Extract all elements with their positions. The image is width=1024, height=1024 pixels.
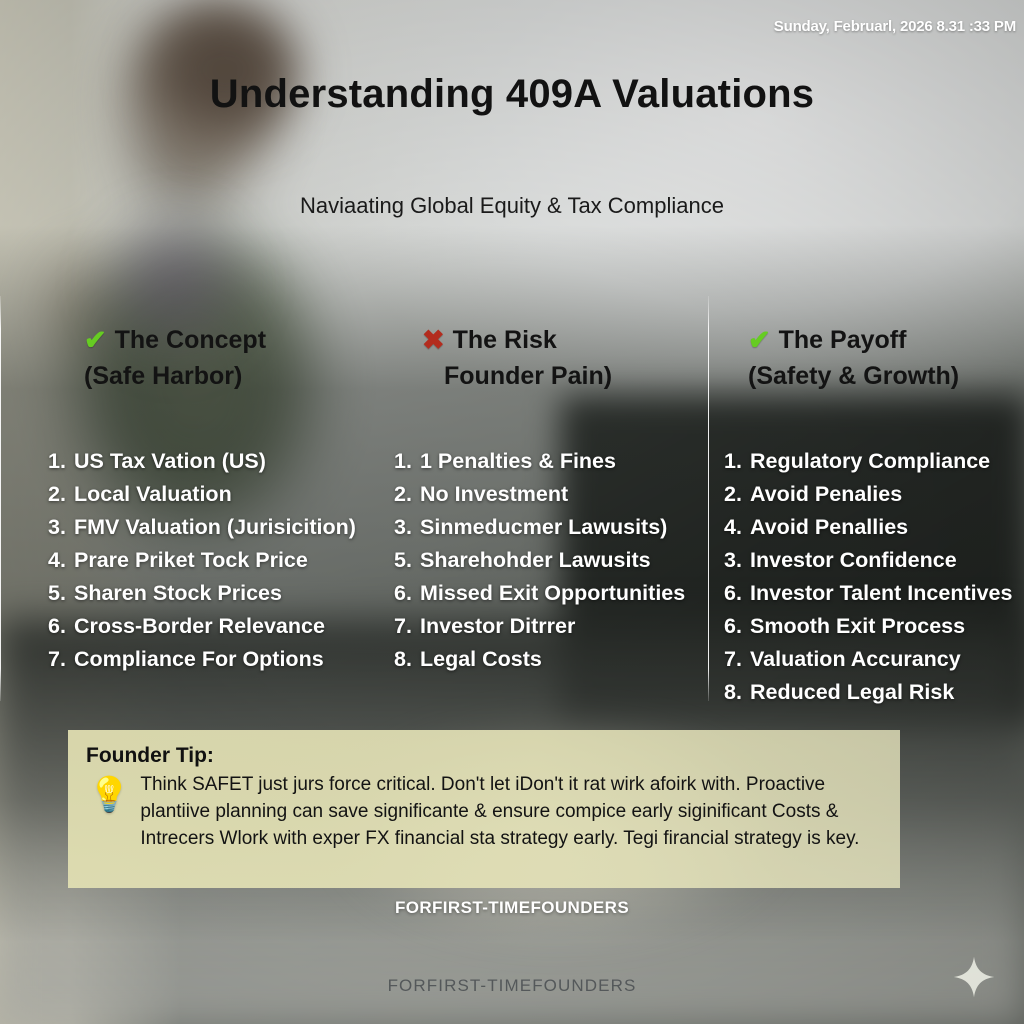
list-item-label: 1 Penalties & Fines bbox=[420, 445, 616, 478]
list-item-number: 1. bbox=[394, 445, 420, 478]
list-item-label: Regulatory Compliance bbox=[750, 445, 990, 478]
lightbulb-icon: 💡 bbox=[88, 778, 130, 812]
column-3-list: 1.Regulatory Compliance 2.Avoid Penalies… bbox=[724, 445, 1020, 710]
column-1-heading: ✔The Concept (Safe Harbor) bbox=[48, 296, 360, 393]
list-item: 4.Prare Priket Tock Price bbox=[48, 544, 360, 577]
list-item: 7.Investor Ditrrer bbox=[394, 610, 698, 643]
column-3-heading-line2: (Safety & Growth) bbox=[748, 359, 1020, 393]
list-item-label: Prare Priket Tock Price bbox=[74, 544, 308, 577]
list-item-number: 6. bbox=[724, 577, 750, 610]
list-item-number: 2. bbox=[724, 478, 750, 511]
list-item-number: 2. bbox=[48, 478, 74, 511]
list-item-number: 1. bbox=[48, 445, 74, 478]
list-item-number: 4. bbox=[48, 544, 74, 577]
list-item-number: 8. bbox=[394, 643, 420, 676]
page-title: Understanding 409A Valuations bbox=[0, 72, 1024, 117]
list-item-label: FMV Valuation (Jurisicition) bbox=[74, 511, 356, 544]
list-item: 7.Valuation Accurancy bbox=[724, 643, 1020, 676]
infographic-slide: Sunday, Februarl, 2026 8.31 :33 PM Under… bbox=[0, 0, 1024, 1024]
list-item: 6.Smooth Exit Process bbox=[724, 610, 1020, 643]
list-item: 2.Avoid Penalies bbox=[724, 478, 1020, 511]
list-item-label: Investor Talent Incentives bbox=[750, 577, 1012, 610]
founder-tip-title: Founder Tip: bbox=[86, 744, 878, 768]
list-item: 1.Regulatory Compliance bbox=[724, 445, 1020, 478]
founder-tip-row: 💡 Think SAFET just jurs force critical. … bbox=[86, 772, 878, 853]
list-item: 8.Legal Costs bbox=[394, 643, 698, 676]
list-item: 8.Reduced Legal Risk bbox=[724, 676, 1020, 709]
column-2-heading-line1: The Risk bbox=[453, 326, 557, 354]
list-item-number: 7. bbox=[724, 643, 750, 676]
list-item: 2.Local Valuation bbox=[48, 478, 360, 511]
list-item-number: 7. bbox=[394, 610, 420, 643]
list-item: 1.US Tax Vation (US) bbox=[48, 445, 360, 478]
column-2-heading-line2: Founder Pain) bbox=[422, 359, 698, 393]
list-item-number: 3. bbox=[394, 511, 420, 544]
sparkle-icon bbox=[952, 955, 996, 999]
list-item-label: Investor Ditrrer bbox=[420, 610, 575, 643]
list-item-label: Sharehohder Lawusits bbox=[420, 544, 651, 577]
list-item-label: Sharen Stock Prices bbox=[74, 577, 282, 610]
watermark-secondary: FORFIRST-TIMEFOUNDERS bbox=[0, 976, 1024, 996]
list-item: 6.Investor Talent Incentives bbox=[724, 577, 1020, 610]
cross-icon: ✖ bbox=[422, 325, 445, 355]
column-1-heading-line1: The Concept bbox=[115, 326, 266, 354]
list-item: 3.Sinmeducmer Lawusits) bbox=[394, 511, 698, 544]
founder-tip-panel: Founder Tip: 💡 Think SAFET just jurs for… bbox=[68, 730, 900, 888]
founder-tip-body: Think SAFET just jurs force critical. Do… bbox=[140, 772, 878, 853]
list-item: 5.Sharehohder Lawusits bbox=[394, 544, 698, 577]
column-the-concept: ✔The Concept (Safe Harbor) 1.US Tax Vati… bbox=[0, 296, 372, 706]
list-item-number: 8. bbox=[724, 676, 750, 709]
column-the-risk: ✖The Risk Founder Pain) 1.1 Penalties & … bbox=[372, 296, 708, 706]
list-item-label: Sinmeducmer Lawusits) bbox=[420, 511, 667, 544]
column-3-heading: ✔The Payoff (Safety & Growth) bbox=[724, 296, 1020, 393]
list-item-number: 6. bbox=[48, 610, 74, 643]
list-item: 1.1 Penalties & Fines bbox=[394, 445, 698, 478]
list-item-label: Smooth Exit Process bbox=[750, 610, 965, 643]
list-item-label: Avoid Penallies bbox=[750, 511, 908, 544]
list-item-number: 1. bbox=[724, 445, 750, 478]
list-item: 4.Avoid Penallies bbox=[724, 511, 1020, 544]
list-item-label: Valuation Accurancy bbox=[750, 643, 961, 676]
column-3-heading-line1: The Payoff bbox=[779, 326, 907, 354]
list-item-label: Reduced Legal Risk bbox=[750, 676, 954, 709]
list-item: 2.No Investment bbox=[394, 478, 698, 511]
list-item: 6.Cross-Border Relevance bbox=[48, 610, 360, 643]
list-item-label: US Tax Vation (US) bbox=[74, 445, 266, 478]
list-item-number: 5. bbox=[48, 577, 74, 610]
page-subtitle: Naviaating Global Equity & Tax Complianc… bbox=[0, 193, 1024, 219]
column-2-heading: ✖The Risk Founder Pain) bbox=[394, 296, 698, 393]
list-item-label: Cross-Border Relevance bbox=[74, 610, 325, 643]
column-1-list: 1.US Tax Vation (US) 2.Local Valuation 3… bbox=[48, 445, 360, 677]
list-item: 6.Missed Exit Opportunities bbox=[394, 577, 698, 610]
list-item-label: Legal Costs bbox=[420, 643, 542, 676]
list-item: 3.FMV Valuation (Jurisicition) bbox=[48, 511, 360, 544]
column-the-payoff: ✔The Payoff (Safety & Growth) 1.Regulato… bbox=[708, 296, 1024, 706]
list-item: 3.Investor Confidence bbox=[724, 544, 1020, 577]
list-item-label: Avoid Penalies bbox=[750, 478, 902, 511]
list-item-number: 3. bbox=[724, 544, 750, 577]
list-item-number: 7. bbox=[48, 643, 74, 676]
list-item-number: 5. bbox=[394, 544, 420, 577]
list-item-label: Compliance For Options bbox=[74, 643, 324, 676]
list-item-label: Missed Exit Opportunities bbox=[420, 577, 685, 610]
list-item-label: Local Valuation bbox=[74, 478, 232, 511]
list-item-label: Investor Confidence bbox=[750, 544, 957, 577]
list-item-number: 6. bbox=[724, 610, 750, 643]
watermark-primary: FORFIRST-TIMEFOUNDERS bbox=[0, 898, 1024, 918]
list-item-number: 3. bbox=[48, 511, 74, 544]
list-item: 7.Compliance For Options bbox=[48, 643, 360, 676]
list-item-label: No Investment bbox=[420, 478, 568, 511]
list-item-number: 2. bbox=[394, 478, 420, 511]
check-icon: ✔ bbox=[84, 325, 107, 355]
columns-container: ✔The Concept (Safe Harbor) 1.US Tax Vati… bbox=[0, 296, 1024, 706]
column-1-heading-line2: (Safe Harbor) bbox=[84, 359, 360, 393]
list-item-number: 4. bbox=[724, 511, 750, 544]
list-item-number: 6. bbox=[394, 577, 420, 610]
list-item: 5.Sharen Stock Prices bbox=[48, 577, 360, 610]
check-icon: ✔ bbox=[748, 325, 771, 355]
timestamp-label: Sunday, Februarl, 2026 8.31 :33 PM bbox=[774, 18, 1016, 35]
column-2-list: 1.1 Penalties & Fines 2.No Investment 3.… bbox=[394, 445, 698, 677]
